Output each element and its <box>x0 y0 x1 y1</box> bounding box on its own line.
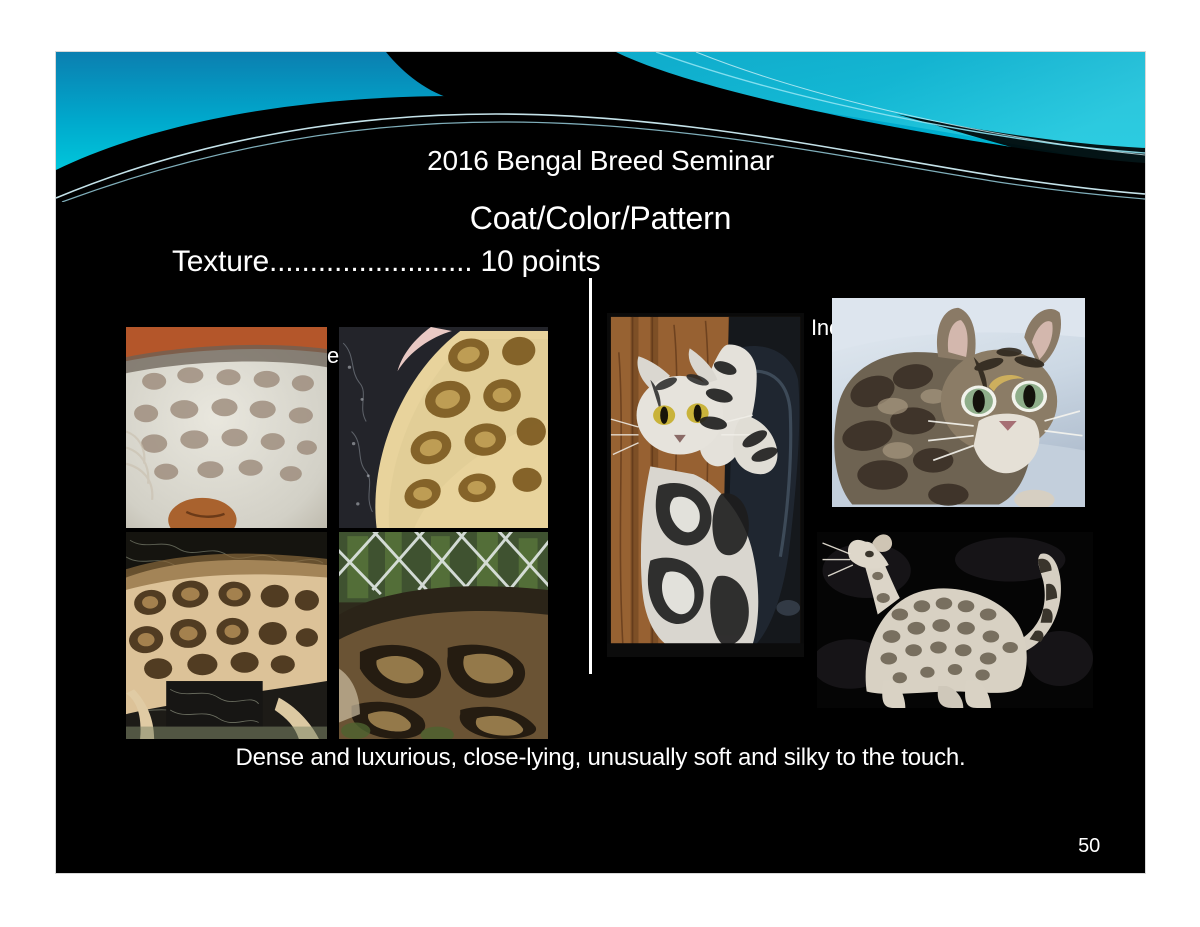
seminar-title: 2016 Bengal Breed Seminar <box>56 145 1145 177</box>
photo-tortie-tabby-kitten <box>832 298 1085 507</box>
column-divider <box>589 278 592 674</box>
marble-bengal-outdoors-image <box>339 532 548 739</box>
photo-snow-bengal-rosetted-coat <box>126 327 327 528</box>
slide-header-decoration <box>56 52 1145 202</box>
page-number: 50 <box>56 835 1100 858</box>
photo-snow-spotted-cat-black-background <box>817 532 1093 708</box>
snow-bengal-rosetted-coat-image <box>126 327 327 528</box>
presentation-slide: 2016 Bengal Breed Seminar Coat/Color/Pat… <box>56 52 1145 873</box>
slide-caption: Dense and luxurious, close-lying, unusua… <box>56 744 1145 772</box>
photo-brown-bengal-rosetted-flank <box>126 532 327 739</box>
snow-spotted-cat-black-background-image <box>817 532 1093 708</box>
criterion-line: Texture......................... 10 poin… <box>172 245 600 279</box>
brown-bengal-rosetted-flank-image <box>126 532 327 739</box>
photo-marble-bengal-outdoors <box>339 532 548 739</box>
header-wave-graphic <box>56 52 1145 202</box>
silver-tabby-climbing-door-image <box>607 313 804 657</box>
brown-bengal-large-rosettes-image <box>339 327 548 528</box>
page-title: Coat/Color/Pattern <box>56 200 1145 237</box>
tortie-tabby-kitten-image <box>832 298 1085 507</box>
screenshot-canvas: 2016 Bengal Breed Seminar Coat/Color/Pat… <box>0 0 1200 927</box>
photo-brown-bengal-large-rosettes <box>339 327 548 528</box>
photo-silver-tabby-climbing-door <box>607 313 804 657</box>
